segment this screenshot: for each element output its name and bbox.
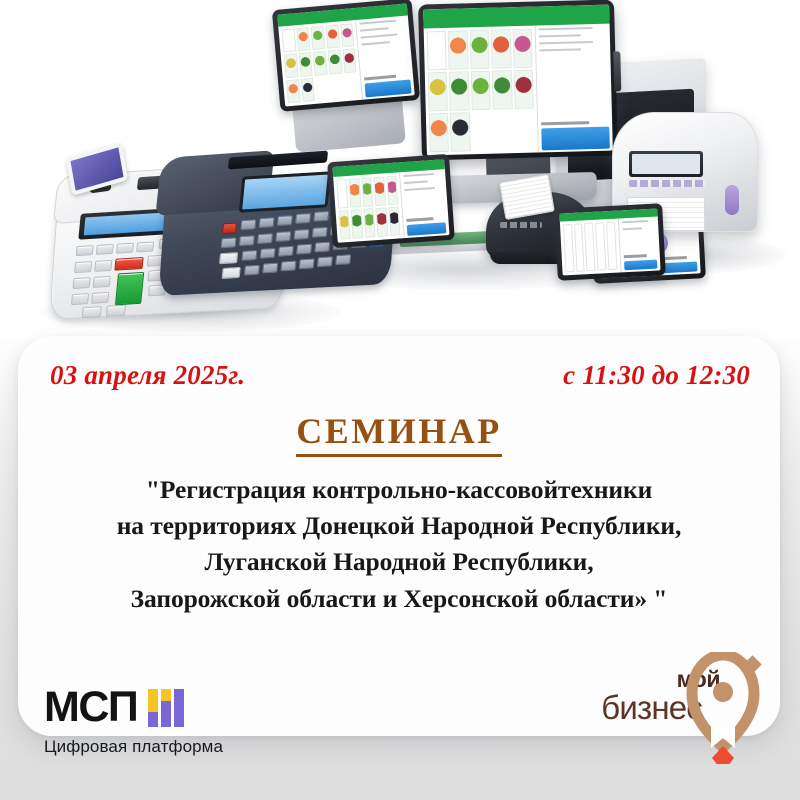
pos-screen xyxy=(423,5,613,156)
msp-tagline: Цифровая платформа xyxy=(44,737,294,757)
msp-bars-icon xyxy=(148,689,184,727)
printer-accent-strip xyxy=(725,185,739,215)
printer-display xyxy=(629,151,703,177)
logo-msp: МСП Цифровая платформа xyxy=(44,686,294,766)
datetime-row: 03 апреля 2025г. с 11:30 до 12:30 xyxy=(18,360,780,391)
terminal-frame xyxy=(554,203,666,281)
body-line: Луганской Народной Республики, xyxy=(18,544,780,580)
pos-pay-button xyxy=(407,222,447,236)
pos-order-list xyxy=(355,15,415,99)
monitor-frame xyxy=(418,0,618,161)
pos-screen xyxy=(277,4,415,107)
logo-moy-biznes: мой бизнес xyxy=(570,652,770,764)
pos-order-list xyxy=(399,169,449,238)
pos-product-grid xyxy=(560,219,620,276)
pos-product-grid xyxy=(278,20,362,106)
pos-pay-button xyxy=(541,126,609,150)
pos-screen xyxy=(332,159,449,243)
msp-wordmark: МСП xyxy=(44,686,137,729)
tablet-frame xyxy=(327,154,455,248)
printer-keypad xyxy=(629,180,705,187)
body-line: на территориях Донецкой Народной Республ… xyxy=(18,508,780,544)
pos-pay-button xyxy=(365,80,412,98)
poster-root: 03 апреля 2025г. с 11:30 до 12:30 СЕМИНА… xyxy=(0,0,800,800)
register-lcd xyxy=(239,171,331,212)
event-date: 03 апреля 2025г. xyxy=(50,360,245,391)
event-time: с 11:30 до 12:30 xyxy=(563,360,750,391)
pos-order-list xyxy=(617,217,660,273)
rocket-pin-icon xyxy=(680,652,766,764)
heading-wrap: СЕМИНАР xyxy=(18,410,780,457)
pos-terminal-small xyxy=(554,203,666,281)
tablet-pos-upper xyxy=(272,0,420,112)
pos-screen xyxy=(559,208,660,275)
body-line: "Регистрация контрольно-кассовойтехники xyxy=(18,472,780,508)
tablet-pos-middle xyxy=(327,154,455,248)
announcement-body: "Регистрация контрольно-кассовойтехники … xyxy=(18,472,780,617)
pos-product-grid xyxy=(424,26,538,156)
pos-monitor-large xyxy=(418,0,618,161)
tablet-frame xyxy=(272,0,420,112)
pos-product-grid xyxy=(333,172,404,243)
body-line: Запорожской области и Херсонской области… xyxy=(18,581,780,617)
pos-order-list xyxy=(535,24,613,153)
monitor-side-button xyxy=(613,51,621,91)
pos-pay-button xyxy=(662,262,697,274)
hero-photo-pos-equipment xyxy=(0,0,800,340)
page-title: СЕМИНАР xyxy=(296,410,501,457)
printer-buttons xyxy=(500,222,542,228)
pos-pay-button xyxy=(624,259,658,270)
